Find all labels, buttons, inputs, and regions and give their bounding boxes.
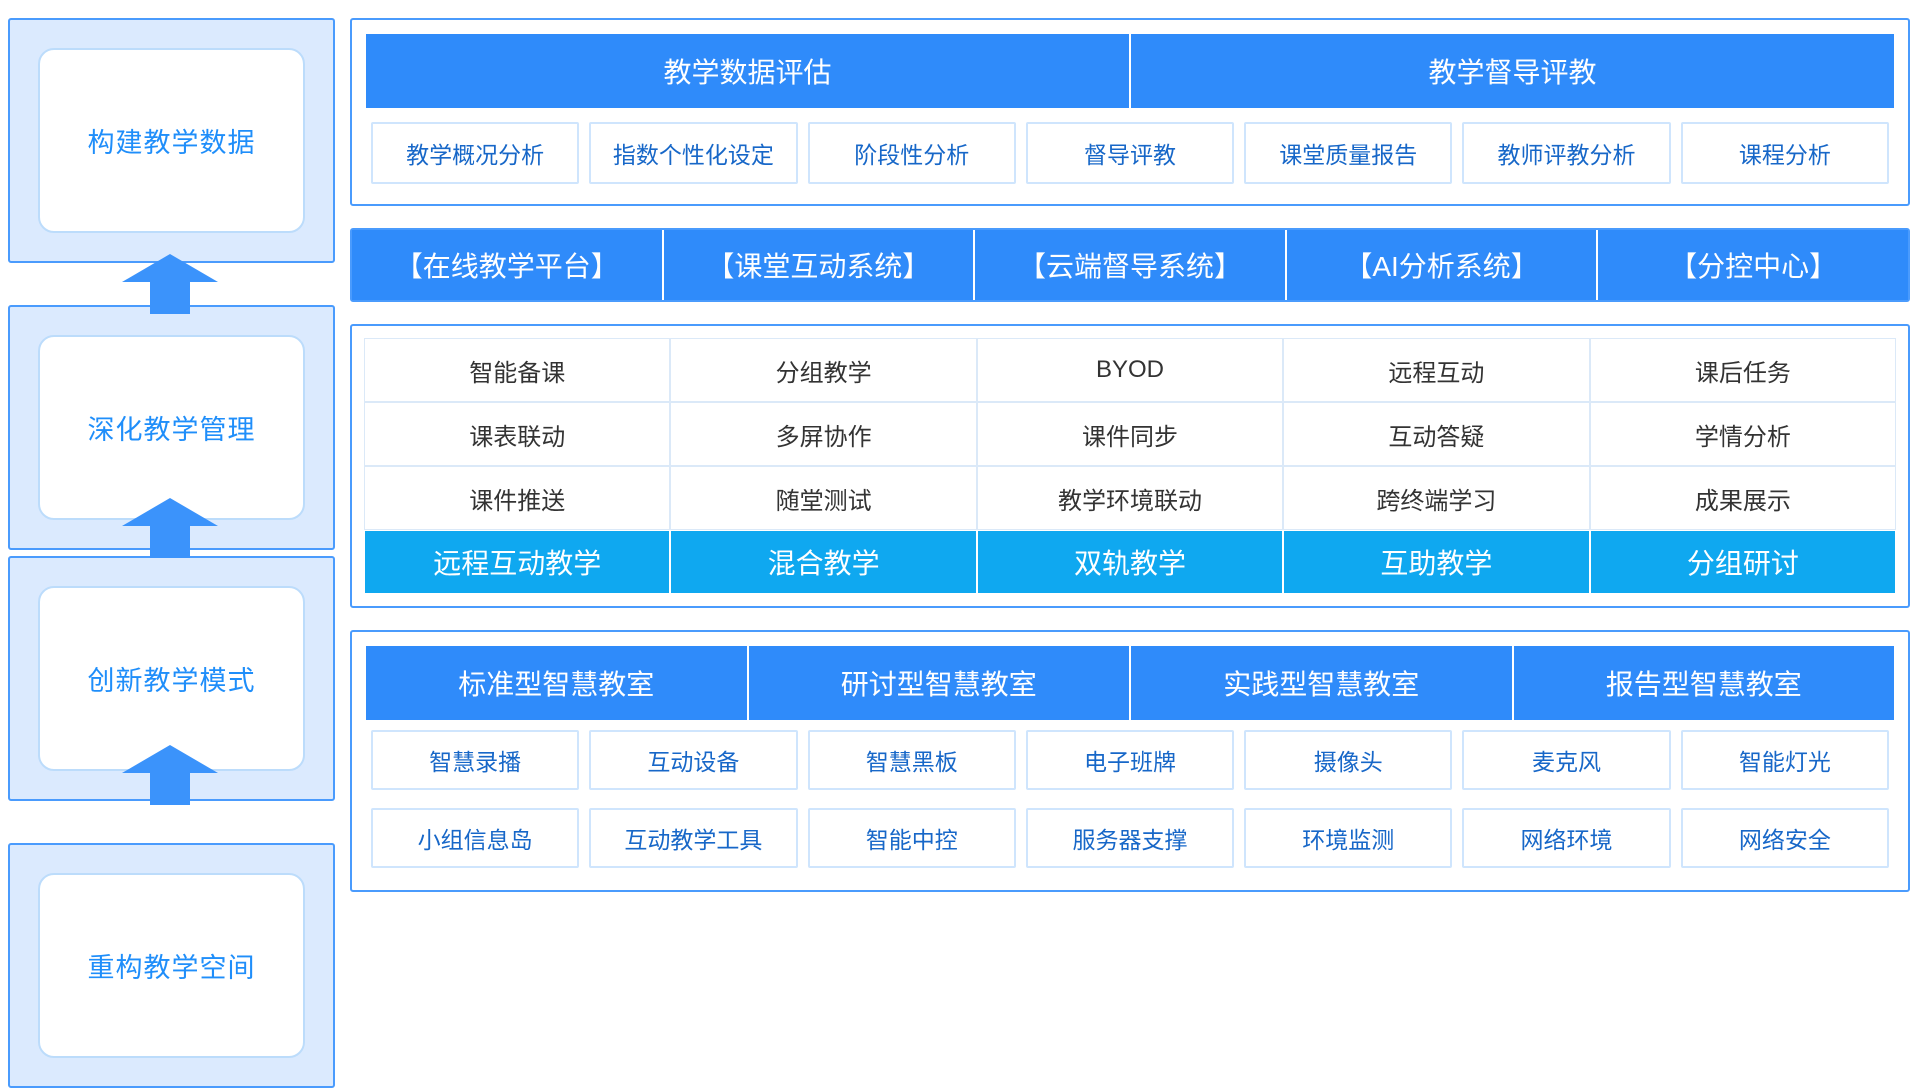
mode-cell-courseware-sync[interactable]: 课件同步 [977,402,1283,466]
panel-teaching-space: 标准型智慧教室 研讨型智慧教室 实践型智慧教室 报告型智慧教室 智慧录播 互动设… [350,630,1910,892]
arrow-stem [150,280,190,314]
classroom-type-row: 标准型智慧教室 研讨型智慧教室 实践型智慧教室 报告型智慧教室 [366,646,1894,720]
chip-teaching-overview[interactable]: 教学概况分析 [371,122,579,184]
equipment-row-2: 小组信息岛 互动教学工具 智能中控 服务器支撑 环境监测 网络环境 网络安全 [366,798,1894,876]
classroom-type-standard[interactable]: 标准型智慧教室 [366,646,749,720]
header-teaching-supervision-eval[interactable]: 教学督导评教 [1131,34,1894,108]
equipment-camera[interactable]: 摄像头 [1244,730,1452,790]
stage-box-4[interactable]: 重构教学空间 [8,843,335,1088]
mode-cell-smart-prep[interactable]: 智能备课 [364,338,670,402]
mode-cell-learning-analysis[interactable]: 学情分析 [1590,402,1896,466]
chip-stage-analysis[interactable]: 阶段性分析 [808,122,1016,184]
classroom-type-seminar[interactable]: 研讨型智慧教室 [749,646,1132,720]
right-panels: 教学数据评估 教学督导评教 教学概况分析 指数个性化设定 阶段性分析 督导评教 … [350,18,1910,892]
equipment-server-support[interactable]: 服务器支撑 [1026,808,1234,868]
arrow-up-icon [122,498,218,558]
equipment-interactive-device[interactable]: 互动设备 [589,730,797,790]
mode-highlight-peer-teaching[interactable]: 互助教学 [1283,530,1589,594]
equipment-network-security[interactable]: 网络安全 [1681,808,1889,868]
chip-course-analysis[interactable]: 课程分析 [1681,122,1889,184]
mode-cell-cross-device-learning[interactable]: 跨终端学习 [1283,466,1589,530]
systems-row: 【在线教学平台】 【课堂互动系统】 【云端督导系统】 【AI分析系统】 【分控中… [352,230,1908,300]
arrow-up-icon [122,745,218,805]
modes-grid: 智能备课 分组教学 BYOD 远程互动 课后任务 课表联动 多屏协作 课件同步 … [364,338,1896,594]
stage-box-1[interactable]: 构建教学数据 [8,18,335,263]
equipment-smart-lighting[interactable]: 智能灯光 [1681,730,1889,790]
panel-teaching-data: 教学数据评估 教学督导评教 教学概况分析 指数个性化设定 阶段性分析 督导评教 … [350,18,1910,206]
mode-cell-outcome-display[interactable]: 成果展示 [1590,466,1896,530]
equipment-network-environment[interactable]: 网络环境 [1462,808,1670,868]
mode-cell-courseware-push[interactable]: 课件推送 [364,466,670,530]
mode-cell-after-class-task[interactable]: 课后任务 [1590,338,1896,402]
equipment-smart-blackboard[interactable]: 智慧黑板 [808,730,1016,790]
mode-cell-env-linkage[interactable]: 教学环境联动 [977,466,1283,530]
stage-label-4: 重构教学空间 [38,873,305,1058]
modes-grid-row: 课表联动 多屏协作 课件同步 互动答疑 学情分析 [364,402,1896,466]
classroom-type-lecture[interactable]: 报告型智慧教室 [1514,646,1895,720]
mode-cell-timetable-linkage[interactable]: 课表联动 [364,402,670,466]
system-control-center[interactable]: 【分控中心】 [1598,230,1908,300]
system-ai-analysis[interactable]: 【AI分析系统】 [1287,230,1599,300]
mode-highlight-blended-teaching[interactable]: 混合教学 [670,530,976,594]
panel-systems: 【在线教学平台】 【课堂互动系统】 【云端督导系统】 【AI分析系统】 【分控中… [350,228,1910,302]
mode-cell-pop-quiz[interactable]: 随堂测试 [670,466,976,530]
equipment-smart-central-control[interactable]: 智能中控 [808,808,1016,868]
arrow-head [122,498,218,526]
modes-highlight-row: 远程互动教学 混合教学 双轨教学 互助教学 分组研讨 [364,530,1896,594]
system-cloud-supervision[interactable]: 【云端督导系统】 [975,230,1287,300]
equipment-group-info-island[interactable]: 小组信息岛 [371,808,579,868]
mode-highlight-group-discussion[interactable]: 分组研讨 [1590,530,1896,594]
arrow-head [122,745,218,773]
equipment-environment-monitoring[interactable]: 环境监测 [1244,808,1452,868]
chip-supervision-eval[interactable]: 督导评教 [1026,122,1234,184]
panel-teaching-data-header-row: 教学数据评估 教学督导评教 [366,34,1894,108]
mode-highlight-remote-interactive-teaching[interactable]: 远程互动教学 [364,530,670,594]
panel-teaching-modes: 智能备课 分组教学 BYOD 远程互动 课后任务 课表联动 多屏协作 课件同步 … [350,324,1910,608]
stage-label-3: 创新教学模式 [38,586,305,771]
header-teaching-data-eval[interactable]: 教学数据评估 [366,34,1131,108]
equipment-smart-recording[interactable]: 智慧录播 [371,730,579,790]
chip-index-custom[interactable]: 指数个性化设定 [589,122,797,184]
panel-teaching-data-chip-row: 教学概况分析 指数个性化设定 阶段性分析 督导评教 课堂质量报告 教师评教分析 … [366,108,1894,190]
system-online-teaching-platform[interactable]: 【在线教学平台】 [352,230,664,300]
diagram-canvas: 构建教学数据 深化教学管理 创新教学模式 重构教学空间 教学数据评估 教学督导评… [0,0,1922,1080]
arrow-head [122,254,218,282]
equipment-interactive-teaching-tools[interactable]: 互动教学工具 [589,808,797,868]
stage-label-2: 深化教学管理 [38,335,305,520]
arrow-up-icon [122,254,218,314]
modes-grid-row: 课件推送 随堂测试 教学环境联动 跨终端学习 成果展示 [364,466,1896,530]
chip-class-quality-report[interactable]: 课堂质量报告 [1244,122,1452,184]
arrow-stem [150,524,190,558]
mode-highlight-dual-track-teaching[interactable]: 双轨教学 [977,530,1283,594]
modes-grid-row: 智能备课 分组教学 BYOD 远程互动 课后任务 [364,338,1896,402]
mode-cell-interactive-qa[interactable]: 互动答疑 [1283,402,1589,466]
mode-cell-byod[interactable]: BYOD [977,338,1283,402]
equipment-electronic-class-sign[interactable]: 电子班牌 [1026,730,1234,790]
chip-teacher-eval-analysis[interactable]: 教师评教分析 [1462,122,1670,184]
mode-cell-remote-interaction[interactable]: 远程互动 [1283,338,1589,402]
equipment-row-1: 智慧录播 互动设备 智慧黑板 电子班牌 摄像头 麦克风 智能灯光 [366,720,1894,798]
mode-cell-group-teaching[interactable]: 分组教学 [670,338,976,402]
system-classroom-interaction[interactable]: 【课堂互动系统】 [664,230,976,300]
arrow-stem [150,771,190,805]
classroom-type-practice[interactable]: 实践型智慧教室 [1131,646,1514,720]
equipment-microphone[interactable]: 麦克风 [1462,730,1670,790]
stage-label-1: 构建教学数据 [38,48,305,233]
mode-cell-multiscreen[interactable]: 多屏协作 [670,402,976,466]
